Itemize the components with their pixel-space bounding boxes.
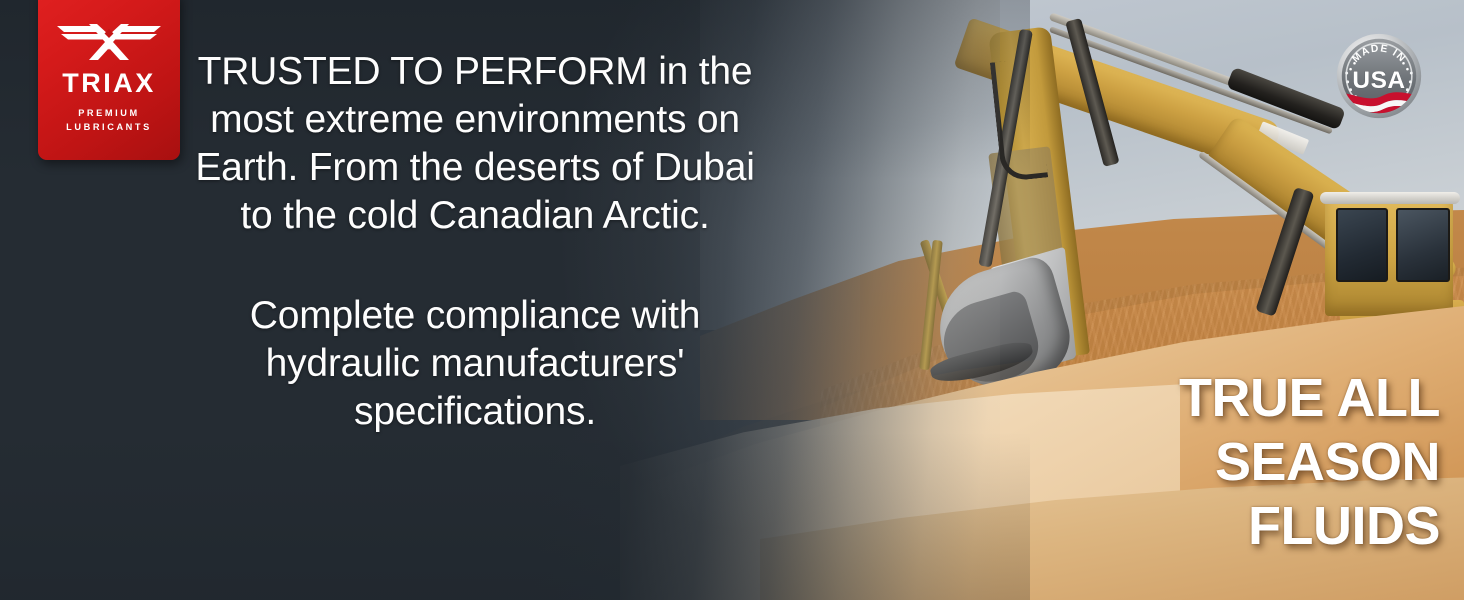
made-in-usa-badge: MADE IN USA: [1330, 27, 1428, 125]
logo-wordmark: TRIAX: [62, 70, 156, 97]
logo-tagline-line2: LUBRICANTS: [66, 120, 152, 134]
triax-logo-badge[interactable]: TRIAX PREMIUM LUBRICANTS: [38, 0, 180, 160]
copy-paragraph-one: TRUSTED TO PERFORM in the most extreme e…: [190, 48, 760, 240]
made-in-usa-seal-icon: MADE IN USA: [1330, 27, 1428, 125]
logo-tagline: PREMIUM LUBRICANTS: [66, 106, 152, 135]
promo-banner: TRIAX PREMIUM LUBRICANTS TRUSTED TO PERF…: [0, 0, 1464, 600]
marketing-copy: TRUSTED TO PERFORM in the most extreme e…: [190, 48, 760, 436]
product-headline: TRUE ALL SEASON FLUIDS: [1010, 366, 1440, 558]
headline-line-two: SEASON: [1010, 430, 1440, 494]
headline-line-three: FLUIDS: [1010, 494, 1440, 558]
logo-tagline-line1: PREMIUM: [66, 106, 152, 120]
excavator-window-side: [1396, 208, 1450, 282]
eagle-emblem-icon: [55, 20, 163, 66]
badge-main-text: USA: [1352, 67, 1405, 94]
headline-line-one: TRUE ALL: [1010, 366, 1440, 430]
excavator-window-front: [1336, 208, 1388, 282]
excavator-cab-roof: [1320, 192, 1460, 204]
copy-paragraph-two: Complete compliance with hydraulic manuf…: [190, 292, 760, 436]
